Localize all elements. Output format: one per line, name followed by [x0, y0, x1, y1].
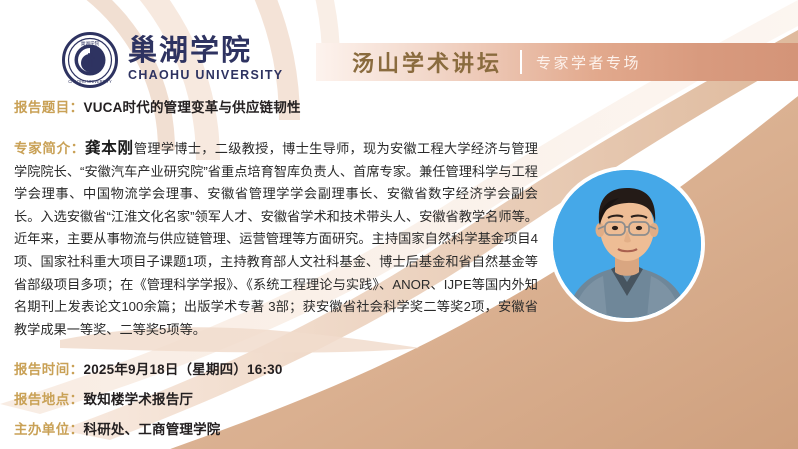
- university-seal-icon: 巢湖学院 CHAOHU UNIVERSITY: [62, 32, 118, 88]
- report-host-label: 主办单位：: [14, 418, 84, 438]
- svg-text:巢湖学院: 巢湖学院: [81, 40, 100, 47]
- speaker-bio-row: 专家简介：龚本刚管理学博士，二级教授，博士生导师，现为安徽工程大学经济与管理学院…: [14, 138, 554, 341]
- university-name-cn: 巢湖学院: [128, 34, 283, 66]
- speaker-bio-label: 专家简介：: [14, 141, 85, 156]
- poster-canvas: 巢湖学院 CHAOHU UNIVERSITY 巢湖学院 CHAOHU UNIVE…: [0, 0, 798, 449]
- report-title-row: 报告题目： VUCA时代的管理变革与供应链韧性: [14, 96, 301, 116]
- report-place-row: 报告地点： 致知楼学术报告厅: [14, 388, 193, 408]
- banner-divider: [520, 50, 522, 74]
- university-name-en: CHAOHU UNIVERSITY: [128, 68, 283, 82]
- banner-subtitle: 专家学者专场: [536, 52, 641, 73]
- series-banner: 汤山学术讲坛 专家学者专场: [316, 43, 798, 81]
- speaker-name: 龚本刚: [85, 140, 134, 157]
- speaker-portrait-photo: [553, 170, 701, 318]
- report-title-value: VUCA时代的管理变革与供应链韧性: [84, 96, 301, 116]
- svg-text:CHAOHU UNIVERSITY: CHAOHU UNIVERSITY: [68, 79, 112, 84]
- institution-logo-block: 巢湖学院 CHAOHU UNIVERSITY 巢湖学院 CHAOHU UNIVE…: [62, 32, 312, 94]
- report-time-row: 报告时间： 2025年9月18日（星期四）16:30: [14, 358, 283, 378]
- report-time-label: 报告时间：: [14, 358, 84, 378]
- speaker-bio-paragraph: 专家简介：龚本刚管理学博士，二级教授，博士生导师，现为安徽工程大学经济与管理学院…: [14, 138, 538, 341]
- report-host-row: 主办单位： 科研处、工商管理学院: [14, 418, 221, 438]
- speaker-bio-text: 管理学博士，二级教授，博士生导师，现为安徽工程大学经济与管理学院院长、“安徽汽车…: [14, 141, 538, 337]
- report-place-label: 报告地点：: [14, 388, 84, 408]
- report-host-value: 科研处、工商管理学院: [84, 418, 221, 438]
- report-title-label: 报告题目：: [14, 96, 84, 116]
- report-time-value: 2025年9月18日（星期四）16:30: [84, 358, 283, 378]
- banner-main-title: 汤山学术讲坛: [352, 46, 502, 78]
- report-place-value: 致知楼学术报告厅: [84, 388, 194, 408]
